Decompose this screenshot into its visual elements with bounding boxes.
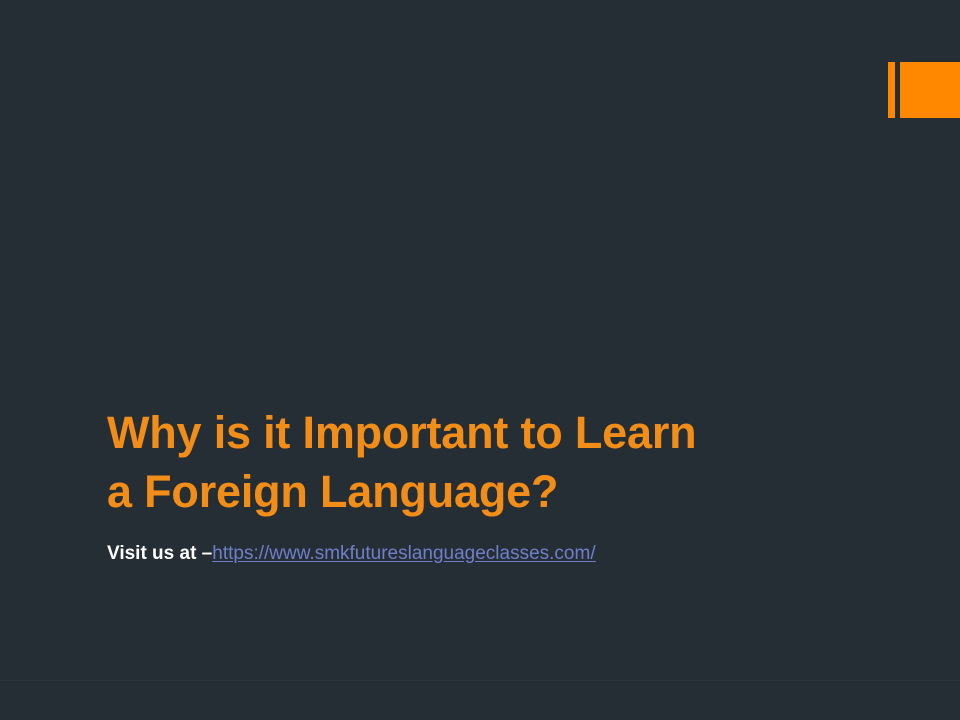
website-link[interactable]: https://www.smkfutureslanguageclasses.co…: [212, 543, 595, 564]
slide-text-block: Why is it Important to Learn a Foreign L…: [107, 404, 867, 566]
orange-thin-bar-decoration: [888, 62, 895, 118]
orange-block-decoration: [900, 62, 960, 118]
slide-subtitle: Visit us at –https://www.smkfutureslangu…: [107, 521, 867, 566]
bottom-divider: [0, 680, 960, 681]
presentation-slide: Why is it Important to Learn a Foreign L…: [0, 0, 960, 720]
subtitle-lead-text: Visit us at –: [107, 543, 212, 564]
slide-title: Why is it Important to Learn a Foreign L…: [107, 404, 867, 521]
